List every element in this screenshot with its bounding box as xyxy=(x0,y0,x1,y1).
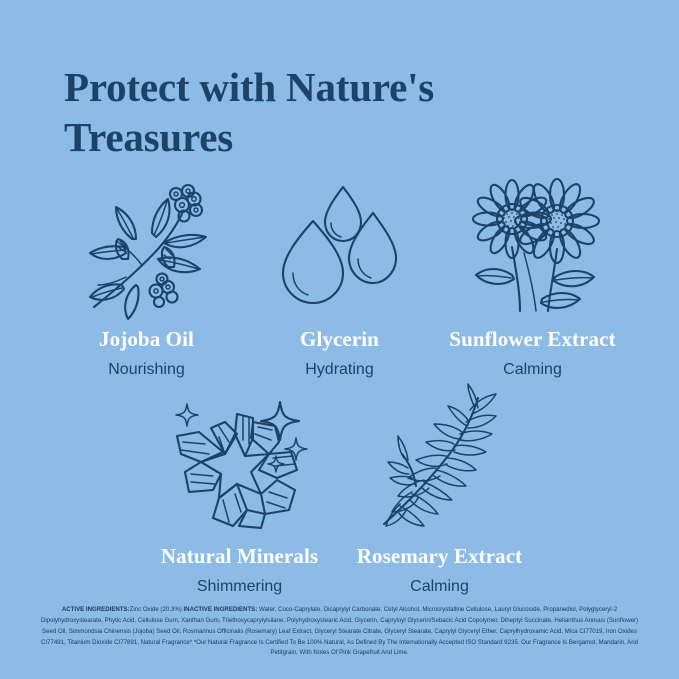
infographic-page: Protect with Nature's Treasures xyxy=(0,0,679,679)
ingredient-card-sunflower-extract: Sunflower Extract Calming xyxy=(436,178,629,379)
ingredient-card-rosemary-extract: Rosemary Extract Calming xyxy=(340,390,540,596)
inactive-ingredients-label: INACTIVE INGREDIENTS: xyxy=(183,606,257,613)
ingredient-benefit: Nourishing xyxy=(108,361,184,379)
ingredient-card-jojoba-oil: Jojoba Oil Nourishing xyxy=(50,178,243,379)
ingredient-name: Jojoba Oil xyxy=(99,327,194,352)
ingredient-benefit: Calming xyxy=(410,578,469,596)
ingredient-benefit: Hydrating xyxy=(305,361,373,379)
ingredient-row-one: Jojoba Oil Nourishing Glycerin Hydr xyxy=(0,178,679,379)
ingredients-fine-print: ACTIVE INGREDIENTS:Zinc Oxide (20.3%) IN… xyxy=(34,605,645,659)
berry-cluster-top xyxy=(170,185,202,222)
ingredient-name: Natural Minerals xyxy=(161,544,318,569)
jojoba-branch-icon xyxy=(82,178,212,313)
mineral-crystal-icon xyxy=(165,390,315,530)
page-title: Protect with Nature's Treasures xyxy=(64,62,584,162)
active-ingredients-label: ACTIVE INGREDIENTS: xyxy=(62,606,130,613)
ingredient-name: Sunflower Extract xyxy=(449,327,615,352)
ingredient-name: Glycerin xyxy=(300,327,379,352)
sunflower-icon xyxy=(462,178,604,313)
ingredient-row-two: Natural Minerals Shimmering xyxy=(0,390,679,596)
sparkle-icon-group xyxy=(176,402,307,472)
water-droplets-icon xyxy=(281,178,399,313)
ingredient-card-natural-minerals: Natural Minerals Shimmering xyxy=(140,390,340,596)
ingredient-benefit: Shimmering xyxy=(197,578,282,596)
ingredient-card-glycerin: Glycerin Hydrating xyxy=(243,178,436,379)
berry-cluster-bottom xyxy=(149,274,177,308)
rosemary-sprig-icon xyxy=(370,390,510,530)
ingredient-name: Rosemary Extract xyxy=(357,544,522,569)
ingredient-benefit: Calming xyxy=(503,361,562,379)
fragrance-footnote: *Our Natural Fragrance Is Certified To B… xyxy=(194,639,638,657)
active-ingredients-value: Zinc Oxide (20.3%) xyxy=(130,606,182,613)
